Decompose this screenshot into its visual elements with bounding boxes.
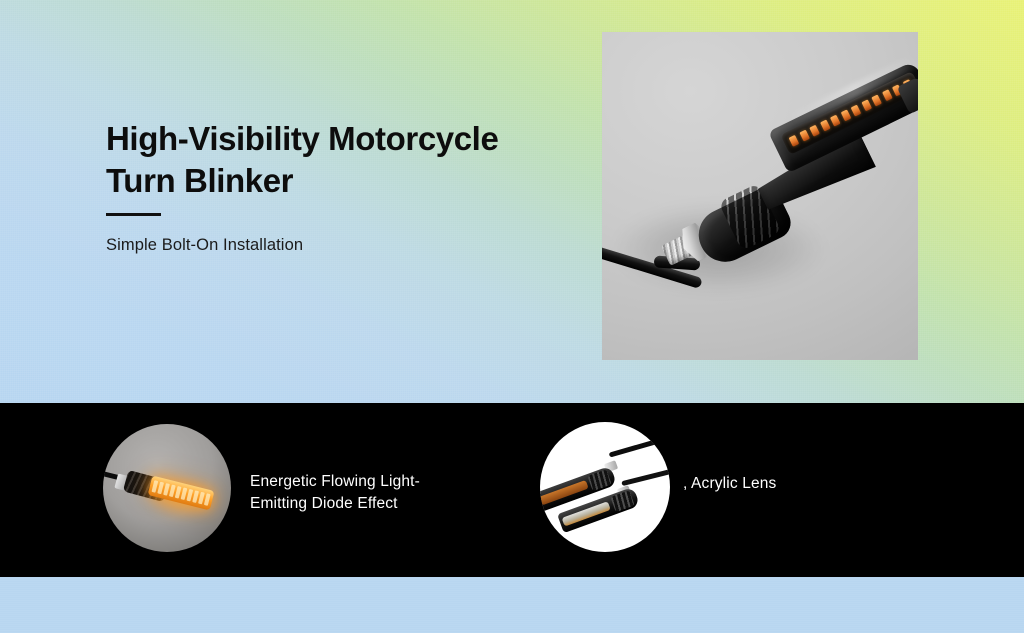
feature-caption-2: , Acrylic Lens [683,473,933,495]
title-divider [106,213,161,216]
lens-wire-upper [608,433,670,457]
acrylic-lens-upper [540,480,589,506]
blinker-grip-upper [587,469,611,491]
hero-section: High-Visibility Motorcycle Turn Blinker … [0,0,1024,403]
feature-band: Energetic Flowing Light- Emitting Diode … [0,403,1024,577]
feature-image-acrylic-lens [540,422,670,552]
feature-caption-1: Energetic Flowing Light- Emitting Diode … [250,471,480,515]
lens-wire-lower [621,467,670,486]
acrylic-lens-lower [562,501,611,526]
hero-product-image [602,32,918,360]
page-title: High-Visibility Motorcycle Turn Blinker [106,118,498,202]
blinker-grip-lower [611,490,635,512]
feature-image-lit-blinker [103,424,231,552]
product-banner: High-Visibility Motorcycle Turn Blinker … [0,0,1024,633]
hero-subtitle: Simple Bolt-On Installation [106,236,303,255]
footer-band [0,577,1024,633]
